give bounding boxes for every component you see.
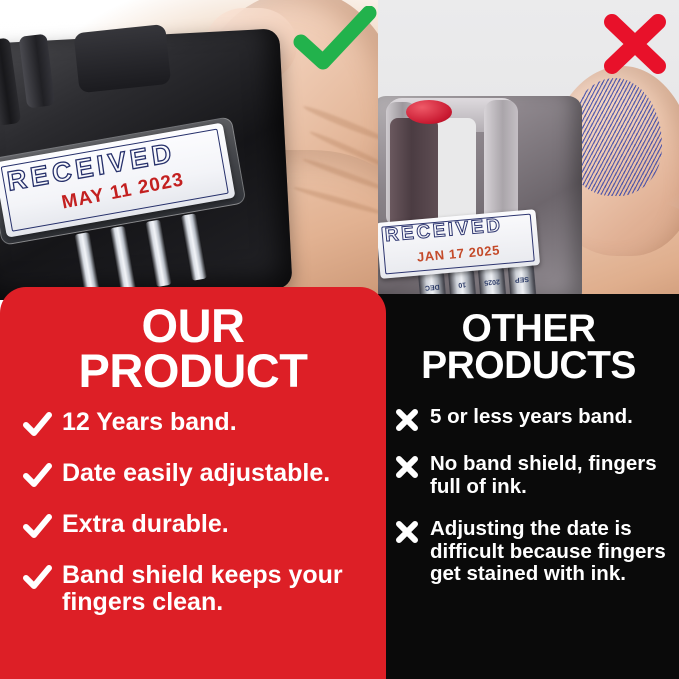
list-item: 5 or less years band.: [394, 406, 669, 433]
list-item: Date easily adjustable.: [22, 460, 372, 490]
list-item: Adjusting the date is difficult because …: [394, 518, 669, 586]
stamp-red-button: [406, 100, 452, 124]
list-item-text: Band shield keeps your fingers clean.: [62, 562, 372, 616]
green-check-icon: [293, 6, 377, 72]
stamp-handle-bar: [73, 24, 171, 93]
comparison-infographic: RECEIVED MAY 11 2023 DE: [0, 0, 679, 679]
check-icon: [22, 409, 52, 439]
date-wheel: [180, 213, 207, 281]
red-cross-icon: [596, 8, 674, 80]
stamp-body: RECEIVED MAY 11 2023: [0, 28, 293, 300]
other-products-photo: DEC 10 2025 SEP RECEIVED JAN 17 2025: [378, 0, 679, 300]
list-item-text: 12 Years band.: [62, 409, 237, 436]
heading-line-2: PRODUCT: [0, 348, 386, 393]
list-item: Extra durable.: [22, 511, 372, 541]
other-products-list: 5 or less years band. No band shield, fi…: [378, 406, 679, 606]
heading-line-1: OTHER: [378, 310, 679, 347]
x-icon: [394, 407, 420, 433]
list-item-text: Extra durable.: [62, 511, 229, 538]
check-icon: [22, 562, 52, 592]
our-product-photo: RECEIVED MAY 11 2023: [0, 0, 378, 300]
our-product-list: 12 Years band. Date easily adjustable. E…: [0, 409, 386, 637]
photo-band: RECEIVED MAY 11 2023 DE: [0, 0, 679, 300]
x-icon: [394, 454, 420, 480]
other-products-heading: OTHER PRODUCTS: [378, 310, 679, 385]
check-icon: [22, 511, 52, 541]
list-item-text: Date easily adjustable.: [62, 460, 330, 487]
list-item-text: Adjusting the date is difficult because …: [430, 518, 669, 586]
list-item: No band shield, fingers full of ink.: [394, 453, 669, 498]
stamp-handle-mid: [19, 34, 56, 109]
list-item: 12 Years band.: [22, 409, 372, 439]
other-products-panel: OTHER PRODUCTS 5 or less years band. No …: [378, 294, 679, 679]
x-icon: [394, 519, 420, 545]
our-product-panel: OUR PRODUCT 12 Years band. Date easily a…: [0, 287, 386, 679]
check-icon: [22, 460, 52, 490]
stamp-arch-right: [484, 100, 518, 228]
our-product-heading: OUR PRODUCT: [0, 303, 386, 393]
stamp-body: DEC 10 2025 SEP RECEIVED JAN 17 2025: [378, 96, 582, 300]
date-wheel: [109, 226, 136, 294]
list-item-text: 5 or less years band.: [430, 406, 633, 429]
stamp-handle-left: [0, 37, 21, 126]
list-item-text: No band shield, fingers full of ink.: [430, 453, 669, 498]
date-wheel: [145, 219, 172, 287]
heading-line-1: OUR: [0, 303, 386, 348]
list-item: Band shield keeps your fingers clean.: [22, 562, 372, 616]
heading-line-2: PRODUCTS: [378, 347, 679, 384]
